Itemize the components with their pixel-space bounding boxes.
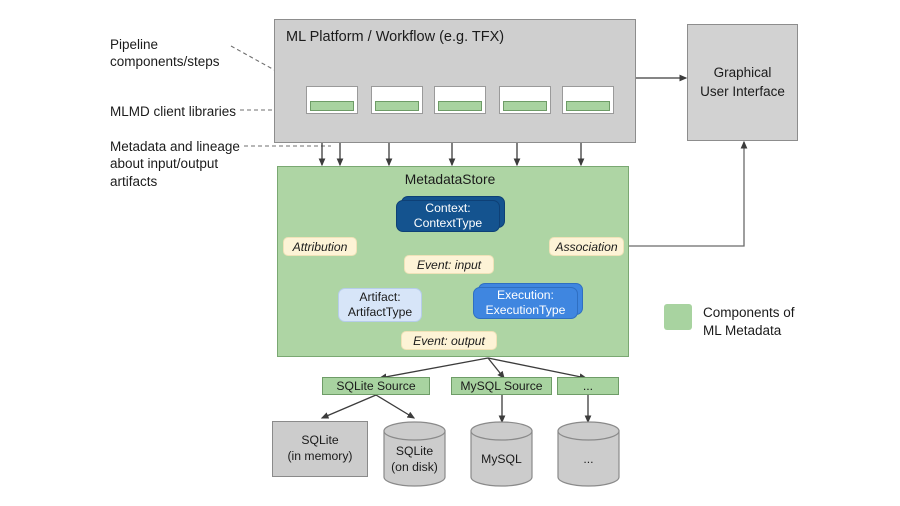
entity-line: ContextType: [414, 216, 482, 230]
entity-line: ArtifactType: [348, 305, 412, 319]
connector-association-gui: [624, 142, 744, 246]
legend-line: Components of: [703, 305, 795, 320]
database-label: ...: [557, 443, 620, 477]
relation-event-input[interactable]: Event: input: [404, 255, 494, 274]
annotation-mlmd-client-libraries: MLMD client libraries: [110, 103, 255, 120]
mlmd-client-library-bar-4: [503, 101, 547, 111]
relation-attribution[interactable]: Attribution: [283, 237, 357, 256]
ml-platform-title: ML Platform / Workflow (e.g. TFX): [286, 29, 504, 45]
database-sqlite-in-memory[interactable]: SQLite (in memory): [272, 421, 368, 477]
connector-store-to-sources: [380, 358, 586, 378]
database-line: MySQL: [481, 452, 522, 468]
mlmd-client-library-bar-1: [310, 101, 354, 111]
database-sqlite-on-disk[interactable]: SQLite (on disk): [383, 421, 446, 487]
gui-label-line: User Interface: [700, 84, 785, 99]
source-mysql[interactable]: MySQL Source: [451, 377, 552, 395]
database-line: SQLite: [301, 433, 338, 447]
diagram-canvas: Pipeline components/steps MLMD client li…: [0, 0, 900, 506]
annotation-line: Pipeline: [110, 37, 158, 52]
annotation-pipeline-components: Pipeline components/steps: [110, 36, 250, 71]
database-line: (in memory): [287, 449, 352, 463]
relation-event-output[interactable]: Event: output: [401, 331, 497, 350]
relation-association[interactable]: Association: [549, 237, 624, 256]
database-label: SQLite (on disk): [383, 443, 446, 477]
source-other[interactable]: ...: [557, 377, 619, 395]
database-mysql[interactable]: MySQL: [470, 421, 533, 487]
entity-context[interactable]: Context: ContextType: [396, 200, 500, 232]
entity-line: Execution:: [497, 288, 554, 302]
mlmd-client-library-bar-5: [566, 101, 610, 111]
database-line: SQLite: [396, 444, 433, 458]
database-line: ...: [583, 452, 593, 468]
annotation-line: Metadata and lineage: [110, 139, 240, 154]
metadatastore-title: MetadataStore: [0, 172, 900, 187]
entity-artifact[interactable]: Artifact: ArtifactType: [338, 288, 422, 322]
annotation-line: components/steps: [110, 54, 220, 69]
source-sqlite[interactable]: SQLite Source: [322, 377, 430, 395]
entity-line: ExecutionType: [486, 303, 566, 317]
annotation-line: MLMD client libraries: [110, 103, 236, 120]
graphical-user-interface-box[interactable]: Graphical User Interface: [687, 24, 798, 141]
mlmd-client-library-bar-3: [438, 101, 482, 111]
connector-sources-to-databases: [322, 395, 588, 422]
database-label: MySQL: [470, 443, 533, 477]
entity-execution[interactable]: Execution: ExecutionType: [473, 287, 578, 319]
database-line: (on disk): [391, 460, 438, 474]
annotation-line: about input/output: [110, 156, 218, 171]
entity-line: Artifact:: [359, 290, 400, 304]
legend-line: ML Metadata: [703, 323, 781, 338]
database-other[interactable]: ...: [557, 421, 620, 487]
legend-label: Components of ML Metadata: [703, 304, 853, 339]
mlmd-client-library-bar-2: [375, 101, 419, 111]
entity-line: Context:: [425, 201, 470, 215]
gui-label-line: Graphical: [714, 65, 772, 80]
legend-color-swatch: [664, 304, 692, 330]
